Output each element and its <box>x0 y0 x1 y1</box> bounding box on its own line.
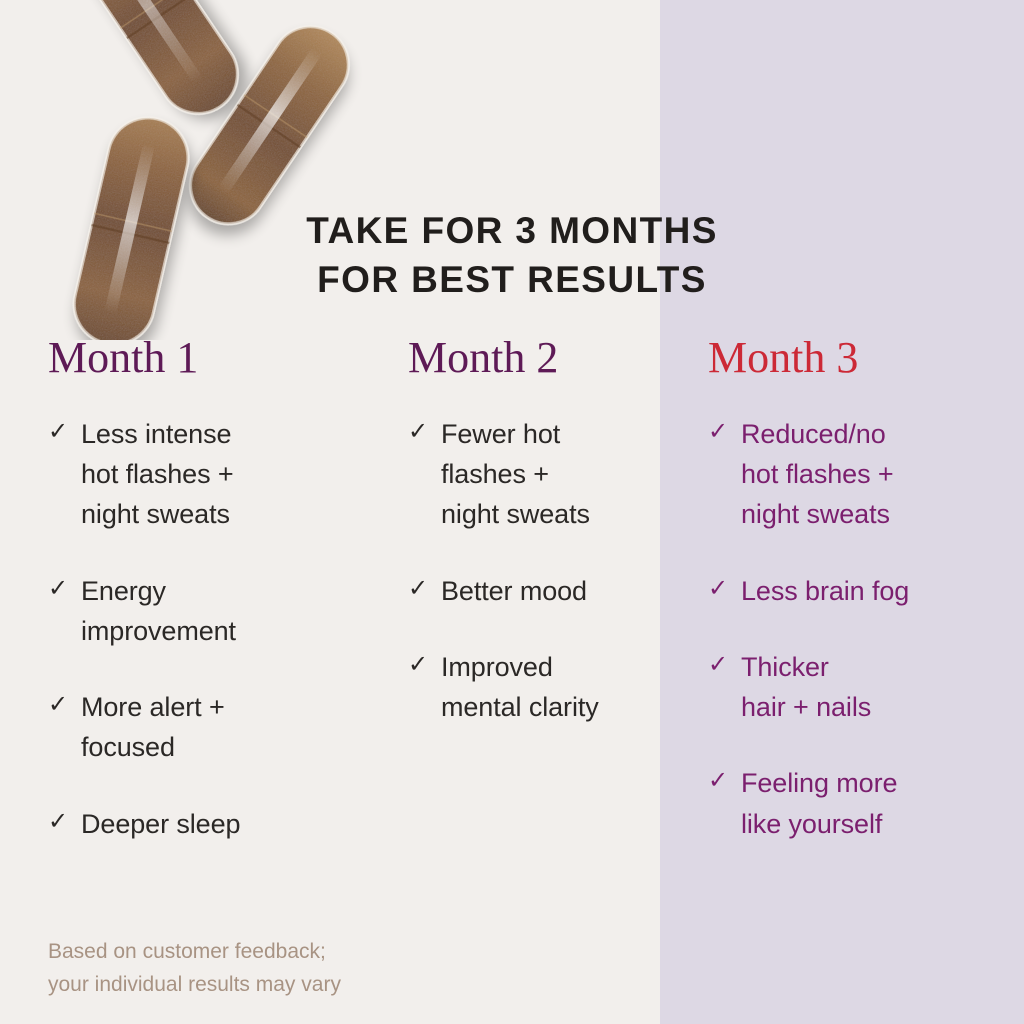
check-icon: ✓ <box>408 570 428 608</box>
benefit-text: More alert + focused <box>81 687 348 767</box>
benefit-text: Better mood <box>441 571 668 611</box>
month-column-2: Month 2 ✓ Fewer hot flashes + night swea… <box>408 336 668 727</box>
poster: TAKE FOR 3 MONTHS FOR BEST RESULTS Month… <box>0 0 1024 1024</box>
benefit-text: Less intense hot flashes + night sweats <box>81 414 348 535</box>
benefit-text: Less brain fog <box>741 571 1008 611</box>
list-item: ✓ Less brain fog <box>708 571 1008 611</box>
month-columns: Month 1 ✓ Less intense hot flashes + nig… <box>0 336 1024 936</box>
benefit-text: Improved mental clarity <box>441 647 668 727</box>
check-icon: ✓ <box>708 570 728 608</box>
list-item: ✓ Feeling more like yourself <box>708 763 1008 843</box>
benefit-text: Energy improvement <box>81 571 348 651</box>
month-column-3: Month 3 ✓ Reduced/no hot flashes + night… <box>708 336 1008 844</box>
check-icon: ✓ <box>408 413 428 451</box>
check-icon: ✓ <box>48 413 68 451</box>
capsule-1 <box>62 0 252 129</box>
benefit-text: Fewer hot flashes + night sweats <box>441 414 668 535</box>
list-item: ✓ Deeper sleep <box>48 804 348 844</box>
month-1-benefit-list: ✓ Less intense hot flashes + night sweat… <box>48 414 348 844</box>
benefit-text: Feeling more like yourself <box>741 763 1008 843</box>
benefit-text: Thicker hair + nails <box>741 647 1008 727</box>
check-icon: ✓ <box>708 413 728 451</box>
list-item: ✓ Fewer hot flashes + night sweats <box>408 414 668 535</box>
benefit-text: Reduced/no hot flashes + night sweats <box>741 414 1008 535</box>
month-1-heading: Month 1 <box>48 336 348 380</box>
month-column-1: Month 1 ✓ Less intense hot flashes + nig… <box>48 336 348 844</box>
month-3-heading: Month 3 <box>708 336 1008 380</box>
month-3-benefit-list: ✓ Reduced/no hot flashes + night sweats … <box>708 414 1008 844</box>
benefit-text: Deeper sleep <box>81 804 348 844</box>
check-icon: ✓ <box>48 570 68 608</box>
page-title: TAKE FOR 3 MONTHS FOR BEST RESULTS <box>0 206 1024 304</box>
check-icon: ✓ <box>48 686 68 724</box>
list-item: ✓ Reduced/no hot flashes + night sweats <box>708 414 1008 535</box>
check-icon: ✓ <box>48 803 68 841</box>
list-item: ✓ Energy improvement <box>48 571 348 651</box>
check-icon: ✓ <box>708 762 728 800</box>
month-2-heading: Month 2 <box>408 336 668 380</box>
list-item: ✓ More alert + focused <box>48 687 348 767</box>
list-item: ✓ Improved mental clarity <box>408 647 668 727</box>
list-item: ✓ Less intense hot flashes + night sweat… <box>48 414 348 535</box>
headline-line-2: FOR BEST RESULTS <box>0 255 1024 304</box>
check-icon: ✓ <box>708 646 728 684</box>
list-item: ✓ Thicker hair + nails <box>708 647 1008 727</box>
disclaimer-text: Based on customer feedback; your individ… <box>48 936 508 1001</box>
month-2-benefit-list: ✓ Fewer hot flashes + night sweats ✓ Bet… <box>408 414 668 727</box>
check-icon: ✓ <box>408 646 428 684</box>
headline-line-1: TAKE FOR 3 MONTHS <box>0 206 1024 255</box>
list-item: ✓ Better mood <box>408 571 668 611</box>
capsule-2 <box>176 12 363 239</box>
